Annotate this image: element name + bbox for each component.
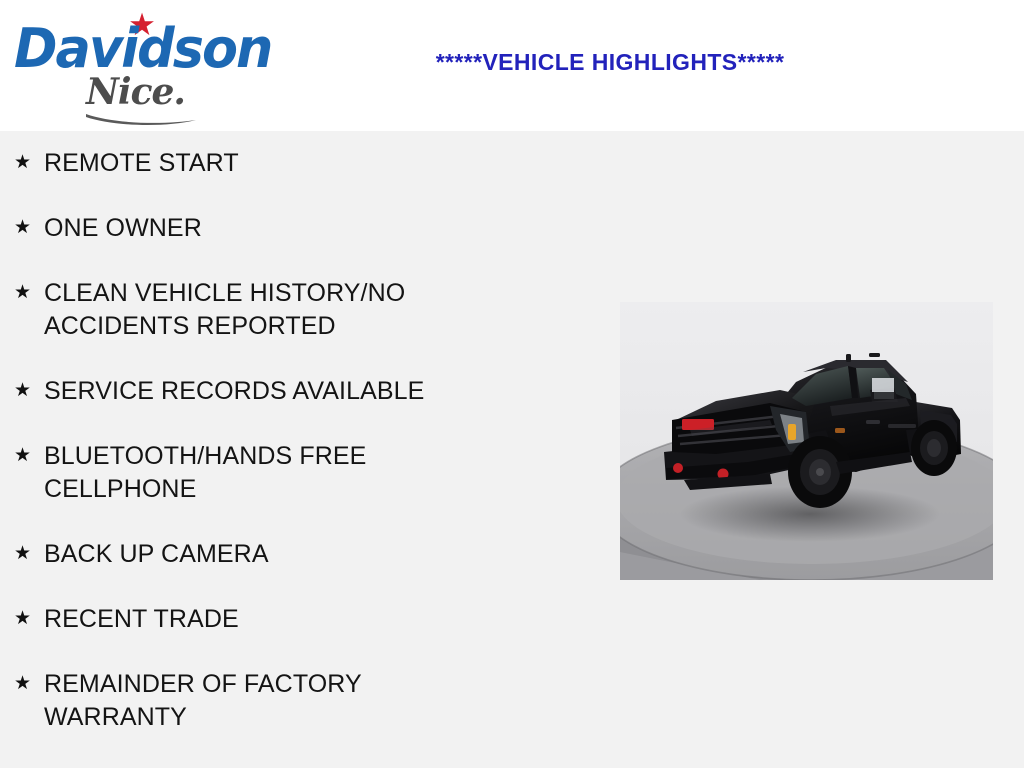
list-item-label: REMOTE START xyxy=(44,147,560,180)
list-item-label: BLUETOOTH/HANDS FREE CELLPHONE xyxy=(44,440,560,506)
vehicle-highlights-page: ★ Davidson Nice. *****VEHICLE HIGHLIGHTS… xyxy=(0,0,1024,768)
star-bullet-icon: ★ xyxy=(14,668,44,699)
list-item-label: REMAINDER OF FACTORY WARRANTY xyxy=(44,668,560,734)
page-header: ★ Davidson Nice. *****VEHICLE HIGHLIGHTS… xyxy=(0,0,1024,131)
star-bullet-icon: ★ xyxy=(14,277,44,308)
vehicle-highlights-list: ★ REMOTE START ★ ONE OWNER ★ CLEAN VEHIC… xyxy=(0,131,560,766)
list-item: ★ BACK UP CAMERA xyxy=(0,538,560,571)
logo-swoosh-icon xyxy=(84,112,204,126)
page-title: *****VEHICLE HIGHLIGHTS***** xyxy=(300,49,920,76)
list-item: ★ CLEAN VEHICLE HISTORY/NO ACCIDENTS REP… xyxy=(0,277,560,343)
list-item-label: BACK UP CAMERA xyxy=(44,538,560,571)
list-item-label: ONE OWNER xyxy=(44,212,560,245)
list-item-label: CLEAN VEHICLE HISTORY/NO ACCIDENTS REPOR… xyxy=(44,277,560,343)
list-item: ★ SERVICE RECORDS AVAILABLE xyxy=(0,375,560,408)
star-bullet-icon: ★ xyxy=(14,440,44,471)
list-item-label: SERVICE RECORDS AVAILABLE xyxy=(44,375,560,408)
star-bullet-icon: ★ xyxy=(14,538,44,569)
list-item: ★ ONE OWNER xyxy=(0,212,560,245)
star-bullet-icon: ★ xyxy=(14,147,44,178)
list-item-label: RECENT TRADE xyxy=(44,603,560,636)
logo-wordmark: Davidson xyxy=(14,22,271,76)
logo-script-text: Nice. xyxy=(86,74,185,110)
list-item: ★ REMAINDER OF FACTORY WARRANTY xyxy=(0,668,560,734)
star-bullet-icon: ★ xyxy=(14,603,44,634)
list-item: ★ BLUETOOTH/HANDS FREE CELLPHONE xyxy=(0,440,560,506)
star-bullet-icon: ★ xyxy=(14,212,44,243)
list-item: ★ REMOTE START xyxy=(0,147,560,180)
list-item: ★ RECENT TRADE xyxy=(0,603,560,636)
star-bullet-icon: ★ xyxy=(14,375,44,406)
dealer-logo: ★ Davidson Nice. xyxy=(14,6,274,124)
vehicle-photo xyxy=(620,302,993,580)
